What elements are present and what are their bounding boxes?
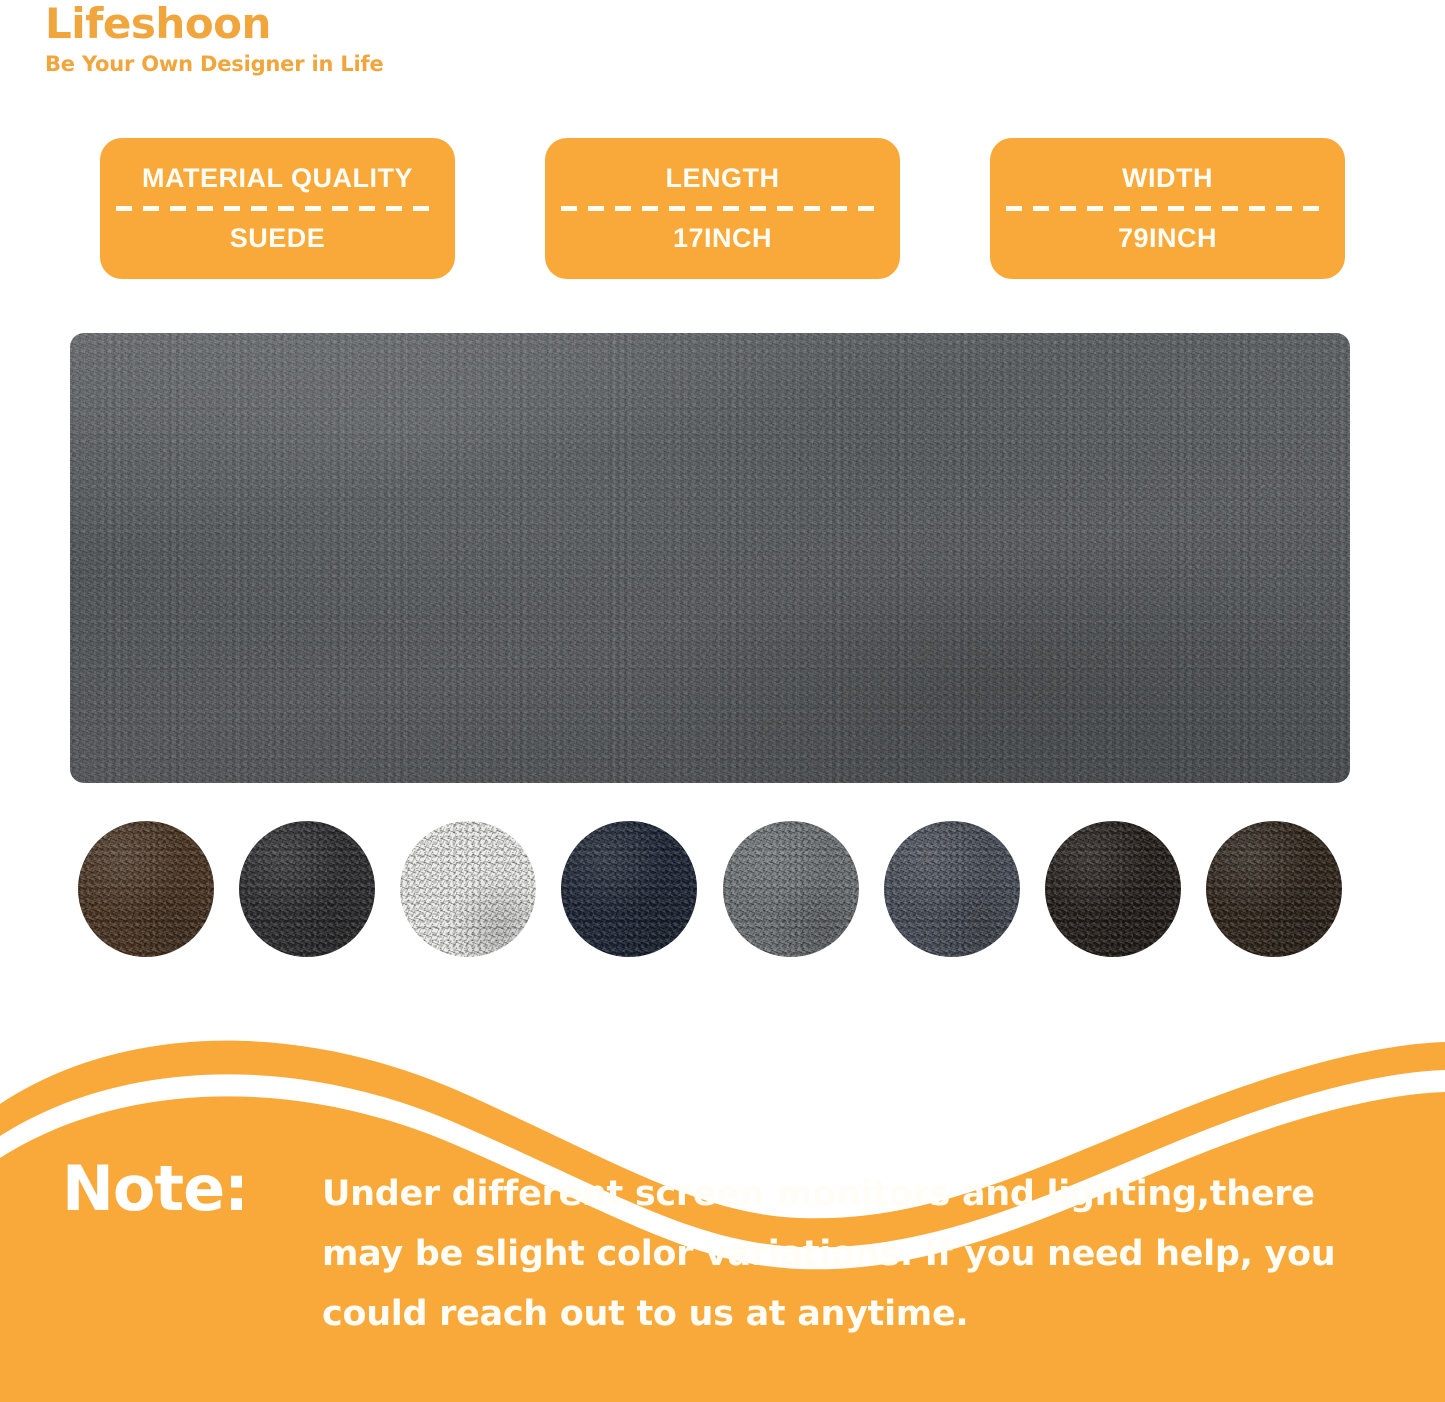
- note-heading: Note:: [62, 1158, 248, 1220]
- color-swatch-navy-blue[interactable]: [561, 821, 697, 957]
- spec-card-material-quality: MATERIAL QUALITY SUEDE: [100, 138, 455, 279]
- dashed-divider: [116, 206, 439, 211]
- rug-texture-sheen: [70, 333, 1350, 783]
- color-swatch-slate-gray[interactable]: [884, 821, 1020, 957]
- spec-card-length: LENGTH 17INCH: [545, 138, 900, 279]
- spec-value: SUEDE: [230, 225, 326, 252]
- swatch-texture: [561, 821, 697, 957]
- spec-label: LENGTH: [666, 165, 780, 192]
- color-swatch-ivory-white[interactable]: [400, 821, 536, 957]
- spec-card-width: WIDTH 79INCH: [990, 138, 1345, 279]
- swatch-texture: [723, 821, 859, 957]
- color-swatch-row: [78, 820, 1342, 958]
- swatch-texture: [1206, 821, 1342, 957]
- note-body-text: Under different screen monitors and ligh…: [322, 1164, 1397, 1345]
- dashed-divider: [561, 206, 884, 211]
- swatch-texture: [884, 821, 1020, 957]
- brand-name: Lifeshoon: [45, 2, 745, 46]
- color-swatch-black[interactable]: [239, 821, 375, 957]
- swatch-texture: [78, 821, 214, 957]
- dashed-divider: [1006, 206, 1329, 211]
- swatch-texture: [239, 821, 375, 957]
- spec-value: 79INCH: [1118, 225, 1217, 252]
- brand-tagline: Be Your Own Designer in Life: [45, 52, 745, 76]
- spec-value: 17INCH: [673, 225, 772, 252]
- color-swatch-medium-gray[interactable]: [723, 821, 859, 957]
- spec-label: WIDTH: [1122, 165, 1213, 192]
- brand-header: Lifeshoon Be Your Own Designer in Life: [45, 2, 745, 76]
- product-hero-image: [70, 333, 1350, 783]
- color-swatch-coffee-brown[interactable]: [1206, 821, 1342, 957]
- swatch-texture: [400, 821, 536, 957]
- spec-label: MATERIAL QUALITY: [142, 165, 413, 192]
- note-section: Note: Under different screen monitors an…: [0, 1150, 1445, 1402]
- color-swatch-charcoal-black[interactable]: [1045, 821, 1181, 957]
- color-swatch-dark-brown[interactable]: [78, 821, 214, 957]
- spec-card-row: MATERIAL QUALITY SUEDE LENGTH 17INCH WID…: [100, 138, 1345, 279]
- swatch-texture: [1045, 821, 1181, 957]
